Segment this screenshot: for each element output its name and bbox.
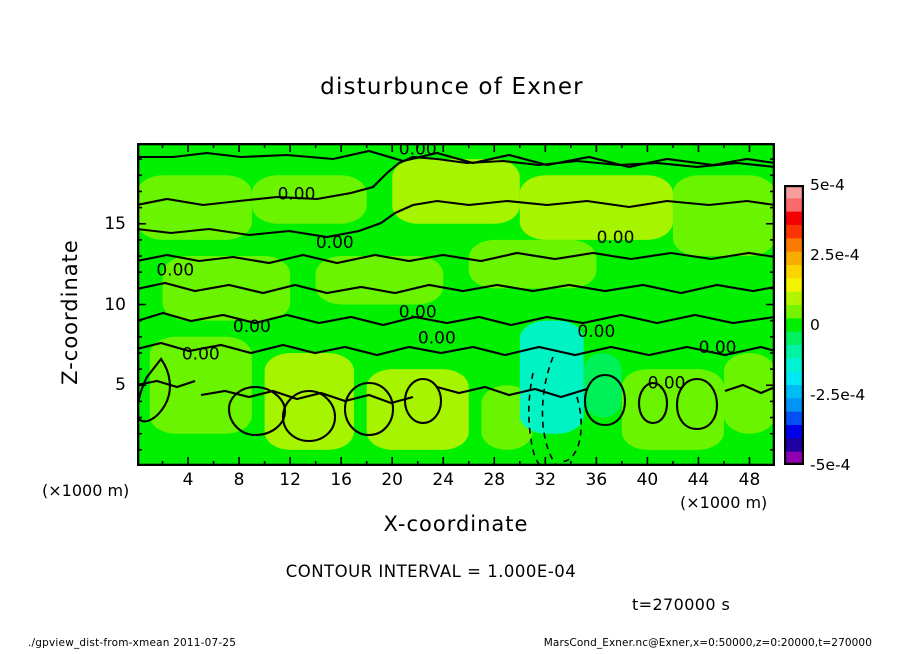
colorbar-band [785, 252, 803, 266]
contour-label: 0.00 [399, 302, 437, 322]
colorbar-band [785, 425, 803, 439]
colorbar-band [785, 438, 803, 452]
x-axis-unit-right: (×1000 m) [680, 493, 767, 512]
contour-plot-svg: 0.000.000.000.000.000.000.000.000.000.00… [137, 143, 775, 466]
x-tick-label: 44 [688, 470, 710, 490]
colorbar-tick-label: -5e-4 [810, 456, 850, 474]
x-tick-label: 20 [381, 470, 403, 490]
colorbar-band [785, 398, 803, 412]
contour-label: 0.00 [278, 185, 316, 205]
x-tick-label: 32 [534, 470, 556, 490]
x-axis-title: X-coordinate [137, 512, 775, 536]
x-tick-label: 12 [279, 470, 301, 490]
colorbar-tick-label: 0 [810, 316, 820, 334]
field-cell [724, 353, 775, 434]
x-tick-label: 4 [183, 470, 194, 490]
colorbar-tick-label: 5e-4 [810, 176, 845, 194]
footer-command: ./gpview_dist-from-xmean 2011-07-25 [28, 637, 236, 649]
colorbar-tick-label: -2.5e-4 [810, 386, 865, 404]
x-tick-label: 8 [234, 470, 245, 490]
colorbar-band [785, 198, 803, 212]
contour-label: 0.00 [182, 344, 220, 364]
colorbar-band [785, 372, 803, 386]
contour-label: 0.00 [418, 328, 456, 348]
colorbar-band [785, 385, 803, 399]
contour-label: 0.00 [577, 322, 615, 342]
colorbar-band [785, 225, 803, 239]
colorbar-bands [785, 185, 803, 465]
colorbar-band [785, 278, 803, 292]
contour-label: 0.00 [399, 143, 437, 159]
contour-interval-label: CONTOUR INTERVAL = 1.000E-04 [0, 562, 862, 581]
time-label: t=270000 s [632, 595, 730, 614]
y-tick-label: 10 [96, 295, 126, 315]
field-cell [367, 369, 469, 450]
field-cell [265, 353, 354, 450]
x-tick-label: 40 [637, 470, 659, 490]
figure-canvas: disturbunce of Exner [0, 0, 904, 654]
colorbar-band [785, 412, 803, 426]
contour-plot: 0.000.000.000.000.000.000.000.000.000.00… [137, 143, 775, 466]
x-tick-label: 16 [330, 470, 352, 490]
colorbar-band [785, 212, 803, 226]
colorbar-band [785, 358, 803, 372]
page-title: disturbunce of Exner [0, 74, 904, 100]
colorbar [784, 185, 804, 465]
field-cell [469, 240, 597, 288]
x-tick-label: 24 [432, 470, 454, 490]
colorbar-tick-label: 2.5e-4 [810, 246, 860, 264]
contour-label: 0.00 [699, 338, 737, 358]
colorbar-band [785, 265, 803, 279]
y-tick-label: 15 [96, 214, 126, 234]
colorbar-band [785, 318, 803, 332]
x-tick-label: 36 [586, 470, 608, 490]
colorbar-band [785, 345, 803, 359]
colorbar-band [785, 332, 803, 346]
contour-label: 0.00 [233, 317, 271, 337]
contour-label: 0.00 [156, 260, 194, 280]
colorbar-svg [784, 185, 804, 465]
y-tick-label: 5 [96, 375, 126, 395]
x-tick-label: 28 [483, 470, 505, 490]
y-axis-title: Z-coordinate [58, 182, 82, 442]
colorbar-band [785, 292, 803, 306]
x-axis-unit-left: (×1000 m) [42, 481, 129, 500]
contour-label: 0.00 [648, 373, 686, 393]
x-tick-label: 48 [739, 470, 761, 490]
colorbar-band [785, 238, 803, 252]
footer-source: MarsCond_Exner.nc@Exner,x=0:50000,z=0:20… [544, 637, 872, 649]
field-cell [392, 159, 520, 224]
contour-label: 0.00 [597, 228, 635, 248]
field-cell [673, 175, 775, 256]
contour-label: 0.00 [316, 233, 354, 253]
colorbar-band [785, 305, 803, 319]
